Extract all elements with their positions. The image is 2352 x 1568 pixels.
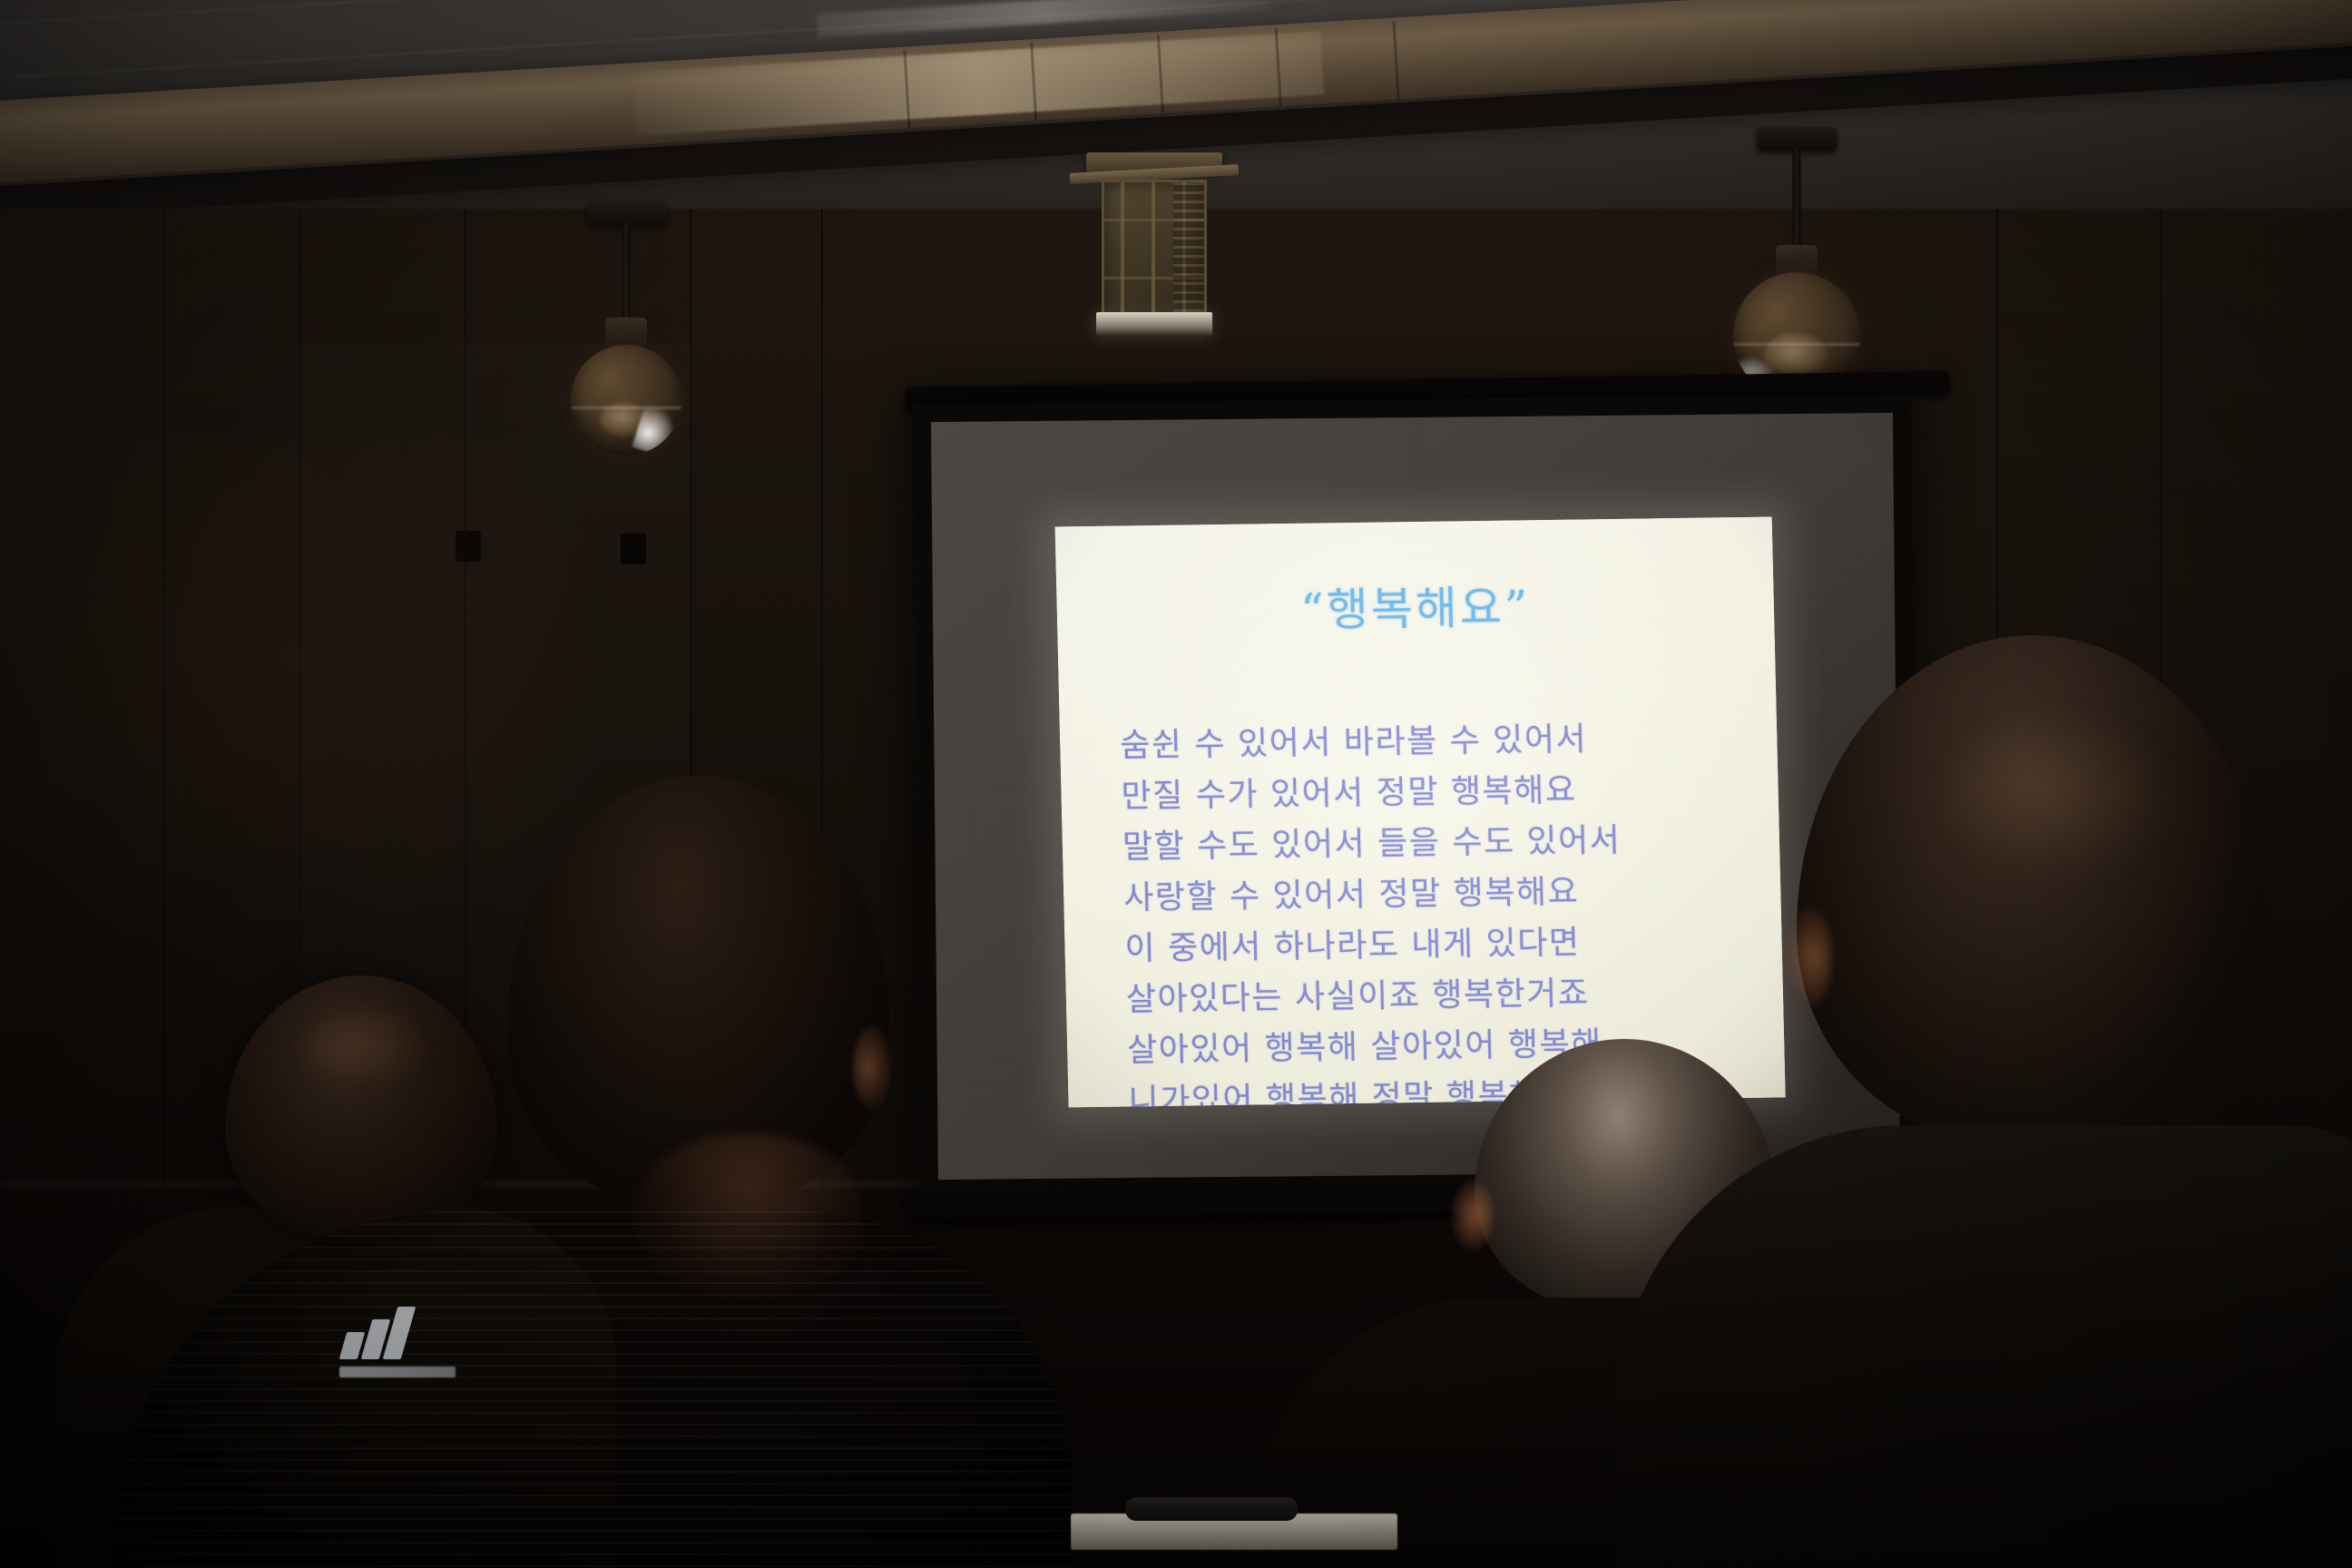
foreground-person-dark-jacket-hair-highlight <box>1942 717 2169 880</box>
adidas-logo-icon <box>343 1299 452 1359</box>
lyric-line: 이 중에서 하나라도 내게 있다면 <box>1124 916 1746 975</box>
foreground-person-blue-shirt-ear <box>853 1025 891 1109</box>
lyric-line: 숨쉰 수 있어서 바라볼 수 있어서 <box>1120 712 1741 772</box>
projection-screen: “행복해요” 숨쉰 수 있어서 바라볼 수 있어서 만질 수가 있어서 정말 행… <box>916 399 1933 1220</box>
lyric-line: 만질 수가 있어서 정말 행복해요 <box>1121 763 1742 823</box>
seated-person-far-left-scalp <box>299 1007 426 1089</box>
lantern-body-icon <box>1102 180 1207 316</box>
lyric-line: 살아있다는 사실이죠 행복한거죠 <box>1125 966 1747 1026</box>
lantern-diffuser <box>1096 312 1212 336</box>
slide-title: “행복해요” <box>1056 568 1775 643</box>
lyric-line: 말할 수도 있어서 들을 수도 있어서 <box>1122 814 1743 874</box>
screen-surface: “행복해요” 숨쉰 수 있어서 바라볼 수 있어서 만질 수가 있어서 정말 행… <box>931 413 1900 1180</box>
globe-pendant-left <box>508 201 744 474</box>
box-lantern-center <box>1036 152 1272 397</box>
seated-elder-ear <box>1452 1180 1494 1250</box>
foreground-person-dark-jacket-ear <box>1785 907 1832 1007</box>
projected-slide: “행복해요” 숨쉰 수 있어서 바라볼 수 있어서 만질 수가 있어서 정말 행… <box>1055 517 1786 1108</box>
table-object <box>1125 1497 1298 1521</box>
foreground-person-dark-jacket-torso <box>1615 1125 2352 1568</box>
lyric-line: 사랑할 수 있어서 정말 행복해요 <box>1123 865 1745 925</box>
screen-frame: “행복해요” 숨쉰 수 있어서 바라볼 수 있어서 만질 수가 있어서 정말 행… <box>913 395 1918 1203</box>
lamp-globe-icon <box>571 345 681 456</box>
photo-scene: “행복해요” 숨쉰 수 있어서 바라볼 수 있어서 만질 수가 있어서 정말 행… <box>0 0 2352 1568</box>
